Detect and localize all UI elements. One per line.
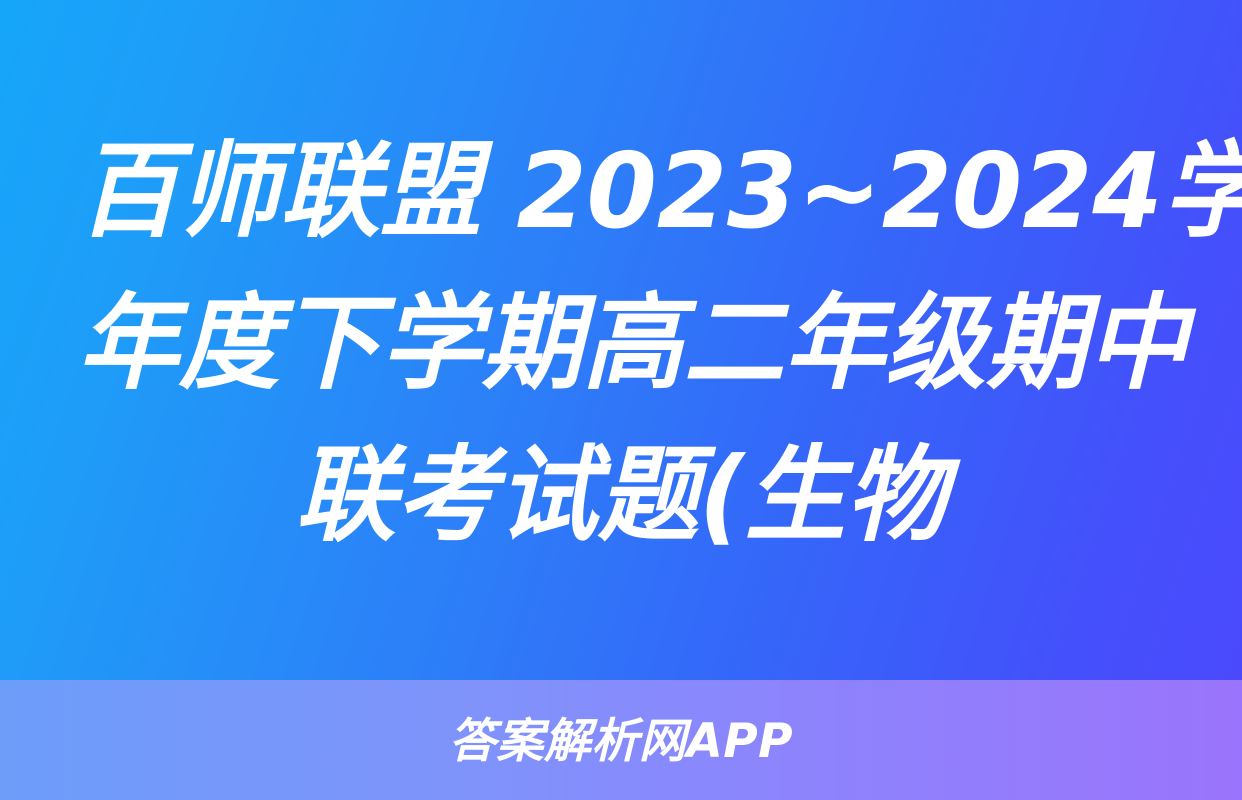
watermark-label: 答案解析网APP: [449, 716, 793, 768]
watermark-band: 答案解析网APP: [0, 680, 1242, 800]
title-line-3: 联考试题(生物: [78, 419, 1164, 571]
page-title: 百师联盟 2023~2024学 年度下学期高二年级期中 联考试题(生物: [61, 109, 1181, 571]
title-line-1: 百师联盟 2023~2024学: [78, 115, 1164, 267]
title-line-2: 年度下学期高二年级期中: [78, 267, 1164, 419]
poster-root: 百师联盟 2023~2024学 年度下学期高二年级期中 联考试题(生物 答案解析…: [0, 0, 1242, 800]
hero-gradient-panel: 百师联盟 2023~2024学 年度下学期高二年级期中 联考试题(生物: [0, 0, 1242, 680]
